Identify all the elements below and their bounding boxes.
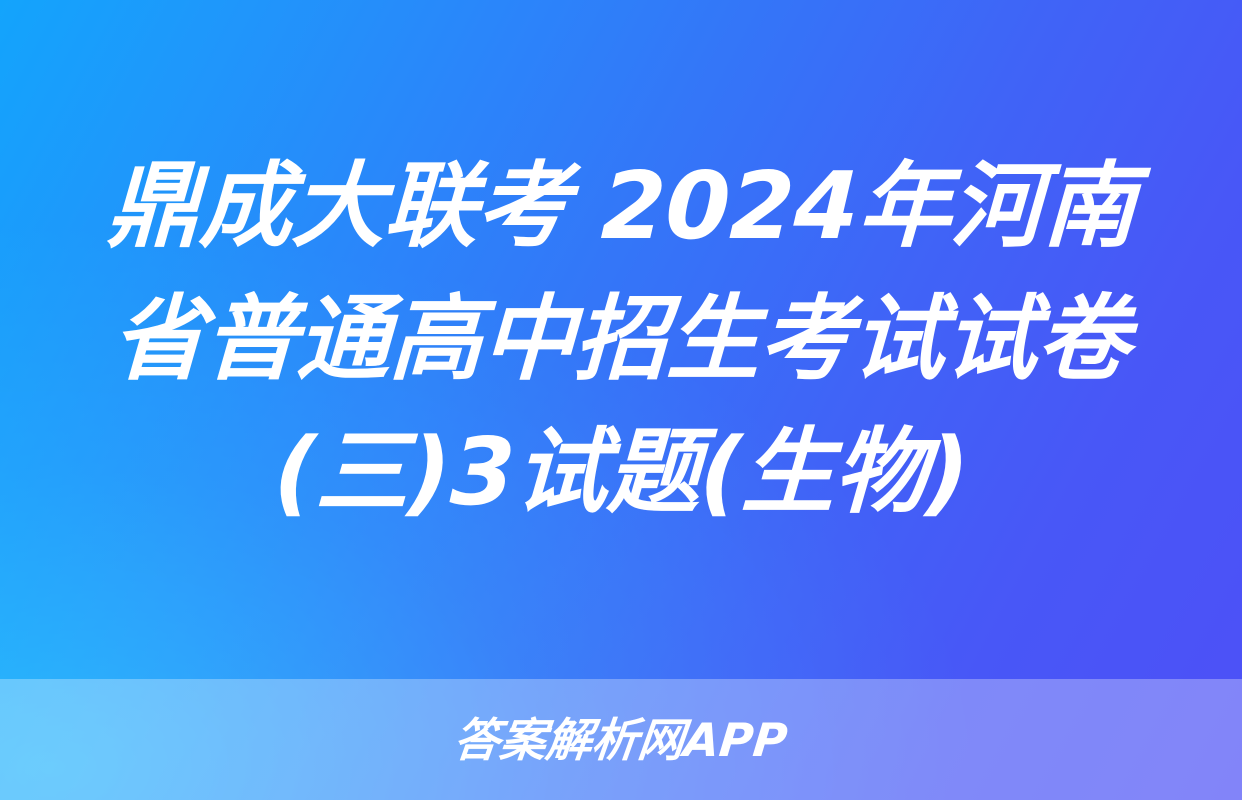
- exam-cover-banner: 鼎成大联考 2024年河南 省普通高中招生考试试卷 (三)3试题(生物) 答案解…: [0, 0, 1242, 800]
- exam-title-block: 鼎成大联考 2024年河南 省普通高中招生考试试卷 (三)3试题(生物): [0, 0, 1242, 679]
- app-footer-strip: 答案解析网APP: [0, 679, 1242, 800]
- app-name-label: 答案解析网APP: [452, 714, 790, 766]
- exam-title-line-3: (三)3试题(生物): [271, 406, 970, 539]
- exam-title-line-1: 鼎成大联考 2024年河南: [104, 140, 1137, 273]
- exam-title-line-2: 省普通高中招生考试试卷: [110, 273, 1132, 406]
